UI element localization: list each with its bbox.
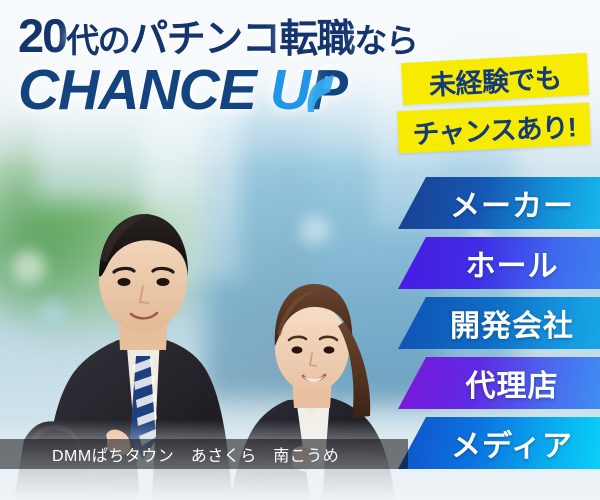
- menu-item-agency-label: 代理店: [400, 361, 600, 405]
- menu-item-media[interactable]: メディア: [400, 417, 600, 469]
- advertisement-banner[interactable]: 20代のパチンコ転職なら CHANCEUP 未経験でも チャンスあり! メーカー…: [0, 0, 600, 500]
- logo-letter-u: U: [270, 58, 310, 122]
- badge-inexperienced-label: 未経験でも: [428, 56, 562, 102]
- menu-item-maker[interactable]: メーカー: [400, 177, 600, 229]
- headline-kanji: 転職: [279, 18, 354, 61]
- menu-item-hall[interactable]: ホール: [400, 237, 600, 289]
- headline-block: 20代のパチンコ転職なら CHANCEUP: [18, 12, 418, 119]
- credit-bar: DMMぱちタウン あさくら 南こうめ: [0, 439, 408, 469]
- logo-letter-p: P: [310, 58, 347, 122]
- headline-katakana: パチンコ: [129, 18, 279, 61]
- badge-chance-label: チャンスあり!: [412, 105, 577, 151]
- menu-item-maker-label: メーカー: [400, 181, 600, 225]
- menu-item-developer-label: 開発会社: [400, 301, 600, 345]
- headline-after-number: 代の: [66, 22, 129, 59]
- chance-up-logo: CHANCEUP: [18, 62, 418, 119]
- headline-tail: なら: [354, 22, 417, 59]
- menu-item-media-label: メディア: [400, 421, 600, 465]
- headline-line-1: 20代のパチンコ転職なら: [18, 12, 418, 59]
- menu-item-hall-label: ホール: [400, 241, 600, 285]
- credit-text: DMMぱちタウン あさくら 南こうめ: [0, 442, 339, 466]
- menu-item-agency[interactable]: 代理店: [400, 357, 600, 409]
- logo-word-chance: CHANCE: [18, 58, 256, 122]
- badge-chance: チャンスあり!: [397, 103, 591, 154]
- menu-item-developer[interactable]: 開発会社: [400, 297, 600, 349]
- category-menu: メーカー ホール 開発会社 代理店 メディア: [400, 177, 600, 469]
- headline-number: 20: [18, 9, 66, 62]
- logo-word-up: UP: [270, 58, 347, 122]
